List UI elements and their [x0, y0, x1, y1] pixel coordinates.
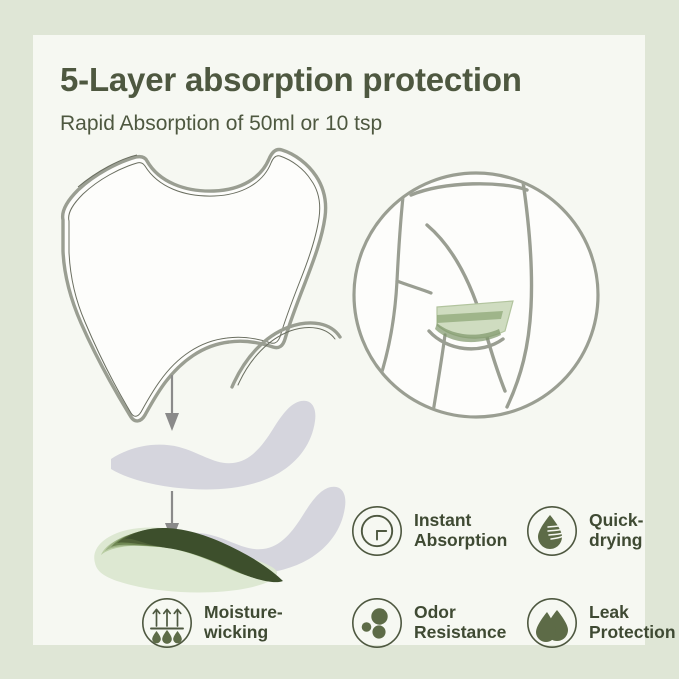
feature-label: Instant Absorption: [414, 511, 507, 550]
feature-label: Odor Resistance: [414, 603, 506, 642]
underwear-front-outline: [63, 149, 340, 420]
feature-label: Leak Protection: [589, 603, 676, 642]
droplet-wind-icon: [526, 505, 578, 557]
inset-circle-border: [354, 173, 598, 417]
feature-instant-absorption[interactable]: Instant Absorption: [351, 505, 507, 557]
body-side-view-circle: [354, 173, 598, 425]
feature-odor-resistance[interactable]: Odor Resistance: [351, 597, 506, 649]
feature-label: Quick-drying: [589, 511, 645, 550]
infographic-root: 5-Layer absorption protection Rapid Abso…: [0, 0, 679, 679]
arrow-down-1: [165, 375, 179, 431]
feature-moisture-wicking[interactable]: Moisture- wicking: [141, 597, 283, 649]
feature-label: Moisture- wicking: [204, 603, 283, 642]
feature-quick-drying[interactable]: Quick-drying: [526, 505, 645, 557]
arrows-up-droplets-icon: [141, 597, 193, 649]
double-droplet-icon: [526, 597, 578, 649]
feature-leak-protection[interactable]: Leak Protection: [526, 597, 676, 649]
content-panel: 5-Layer absorption protection Rapid Abso…: [33, 35, 645, 645]
three-dots-icon: [351, 597, 403, 649]
clock-icon: [351, 505, 403, 557]
